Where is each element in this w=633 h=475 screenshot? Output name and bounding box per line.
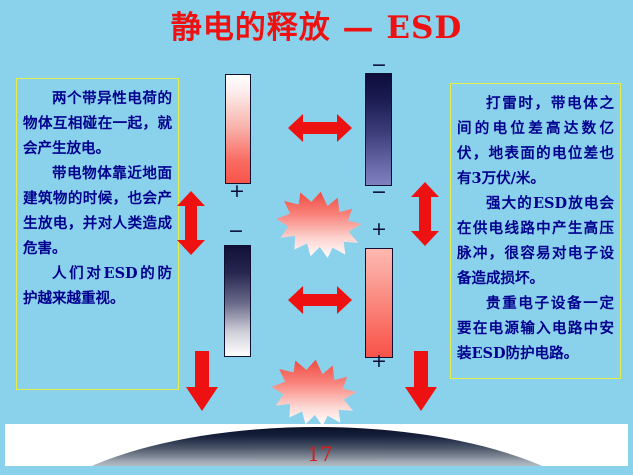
charge-bar-positive-bottom bbox=[365, 248, 393, 358]
charge-bar-negative-bottom bbox=[224, 245, 251, 357]
right-paragraph-1: 打雷时，带电体之间的电位差高达数亿伏，地表面的电位差也有3万伏/米。 bbox=[457, 91, 614, 191]
discharge-burst-top-icon bbox=[275, 190, 363, 258]
right-paragraph-3: 贵重电子设备一定要在电源输入电路中安装ESD防护电路。 bbox=[457, 291, 614, 366]
discharge-burst-bottom-icon bbox=[262, 358, 366, 426]
polarity-sign-negative-top-above: − bbox=[368, 56, 390, 75]
polarity-sign-negative-top-below: − bbox=[368, 183, 390, 202]
polarity-sign-negative-bottom-above: − bbox=[225, 222, 247, 241]
bottom-strip bbox=[0, 466, 633, 475]
page-title: 静电的释放 — ESD bbox=[0, 8, 633, 48]
polarity-sign-positive-top-below: + bbox=[226, 182, 248, 201]
left-paragraph-2: 带电物体靠近地面建筑物的时候，也会产生放电，并对人类造成危害。 bbox=[23, 161, 172, 261]
double-arrow-horizontal-top-icon bbox=[288, 111, 352, 145]
polarity-sign-positive-bottom-below: + bbox=[368, 352, 390, 371]
charge-bar-negative-top bbox=[365, 73, 392, 186]
down-arrow-right-icon bbox=[404, 351, 438, 411]
left-text-box: 两个带异性电荷的物体互相碰在一起，就会产生放电。 带电物体靠近地面建筑物的时候，… bbox=[16, 78, 179, 390]
double-arrow-horizontal-bottom-icon bbox=[288, 283, 352, 317]
slide-canvas: 静电的释放 — ESD 两个带异性电荷的物体互相碰在一起，就会产生放电。 带电物… bbox=[0, 0, 633, 475]
right-text-box: 打雷时，带电体之间的电位差高达数亿伏，地表面的电位差也有3万伏/米。 强大的ES… bbox=[450, 83, 621, 379]
double-arrow-vertical-left-icon bbox=[174, 191, 208, 255]
left-paragraph-3: 人们对ESD的防护越来越重视。 bbox=[23, 261, 172, 311]
polarity-sign-positive-bottom-above: + bbox=[368, 220, 390, 239]
double-arrow-vertical-right-icon bbox=[408, 182, 442, 246]
page-number: 17 bbox=[290, 444, 350, 464]
right-paragraph-2: 强大的ESD放电会在供电线路中产生高压脉冲，很容易对电子设备造成损坏。 bbox=[457, 191, 614, 291]
left-paragraph-1: 两个带异性电荷的物体互相碰在一起，就会产生放电。 bbox=[23, 86, 172, 161]
down-arrow-left-icon bbox=[185, 351, 219, 411]
charge-bar-positive-top bbox=[225, 74, 251, 184]
